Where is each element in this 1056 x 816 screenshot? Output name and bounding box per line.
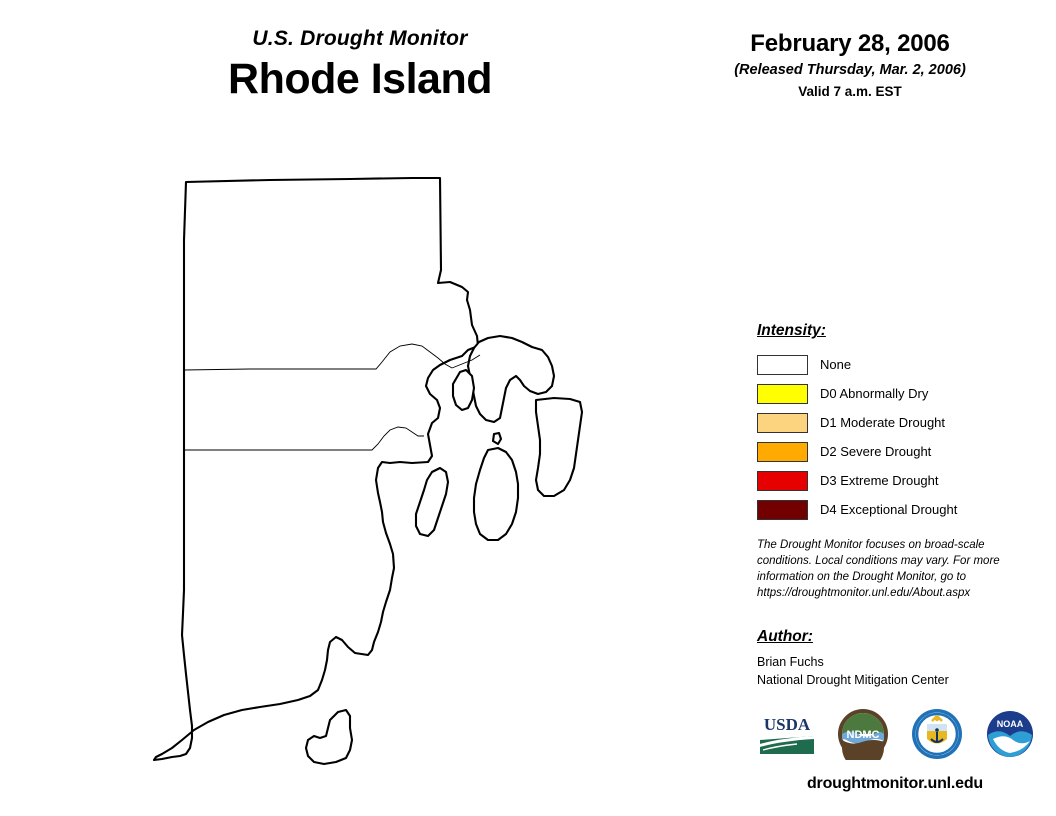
- legend-swatch-none: [757, 355, 808, 375]
- usda-seal-logo[interactable]: [910, 707, 964, 761]
- ndmc-logo[interactable]: NDMC: [836, 708, 890, 760]
- legend-label-d4: D4 Exceptional Drought: [820, 503, 957, 516]
- legend-item-d4[interactable]: D4 Exceptional Drought: [757, 495, 1027, 524]
- legend-label-d2: D2 Severe Drought: [820, 445, 931, 458]
- legend-label-d0: D0 Abnormally Dry: [820, 387, 928, 400]
- state-outline-block-island: [306, 710, 352, 764]
- author-block: Author: Brian Fuchs National Drought Mit…: [757, 628, 1027, 690]
- legend-swatch-d3: [757, 471, 808, 491]
- legend-item-d2[interactable]: D2 Severe Drought: [757, 437, 1027, 466]
- legend-item-d1[interactable]: D1 Moderate Drought: [757, 408, 1027, 437]
- series-title: U.S. Drought Monitor: [150, 26, 570, 51]
- noaa-logo-text: NOAA: [997, 719, 1024, 729]
- state-outline-conanicut-island: [416, 468, 448, 536]
- state-outline-mainland: [154, 178, 478, 760]
- ndmc-logo-text: NDMC: [847, 729, 880, 741]
- legend-label-d1: D1 Moderate Drought: [820, 416, 945, 429]
- legend-swatch-d0: [757, 384, 808, 404]
- map-release-date: (Released Thursday, Mar. 2, 2006): [690, 62, 1010, 79]
- legend-item-d0[interactable]: D0 Abnormally Dry: [757, 379, 1027, 408]
- author-heading: Author:: [757, 628, 1027, 646]
- page-title: Rhode Island: [150, 55, 570, 103]
- map-valid-time: Valid 7 a.m. EST: [690, 84, 1010, 100]
- state-outline-little-compton: [536, 398, 582, 496]
- legend-item-none[interactable]: None: [757, 350, 1027, 379]
- disclaimer-text: The Drought Monitor focuses on broad-sca…: [757, 538, 1019, 601]
- rhode-island-map-svg: [150, 150, 620, 810]
- legend-label-d3: D3 Extreme Drought: [820, 474, 939, 487]
- legend-swatch-d1: [757, 413, 808, 433]
- legend: Intensity: None D0 Abnormally Dry D1 Mod…: [757, 322, 1027, 524]
- author-name: Brian Fuchs: [757, 654, 1027, 672]
- title-block: U.S. Drought Monitor Rhode Island: [150, 26, 570, 103]
- legend-label-none: None: [820, 358, 851, 371]
- map-date: February 28, 2006: [690, 30, 1010, 58]
- legend-item-d3[interactable]: D3 Extreme Drought: [757, 466, 1027, 495]
- legend-swatch-d4: [757, 500, 808, 520]
- usda-logo-text: USDA: [764, 715, 811, 734]
- date-block: February 28, 2006 (Released Thursday, Ma…: [690, 30, 1010, 100]
- footer-url[interactable]: droughtmonitor.unl.edu: [740, 775, 1050, 793]
- drought-map[interactable]: [150, 150, 620, 810]
- author-organization: National Drought Mitigation Center: [757, 672, 1027, 690]
- legend-heading: Intensity:: [757, 322, 1027, 340]
- state-outline-aquidneck-island: [474, 448, 518, 540]
- legend-swatch-d2: [757, 442, 808, 462]
- state-outline-prudence-island: [453, 370, 474, 410]
- noaa-logo[interactable]: NOAA: [983, 709, 1037, 759]
- state-outline-bay-islet: [493, 433, 501, 444]
- logo-row: USDA NDMC NOAA: [757, 704, 1037, 764]
- usda-logo[interactable]: USDA: [757, 710, 817, 758]
